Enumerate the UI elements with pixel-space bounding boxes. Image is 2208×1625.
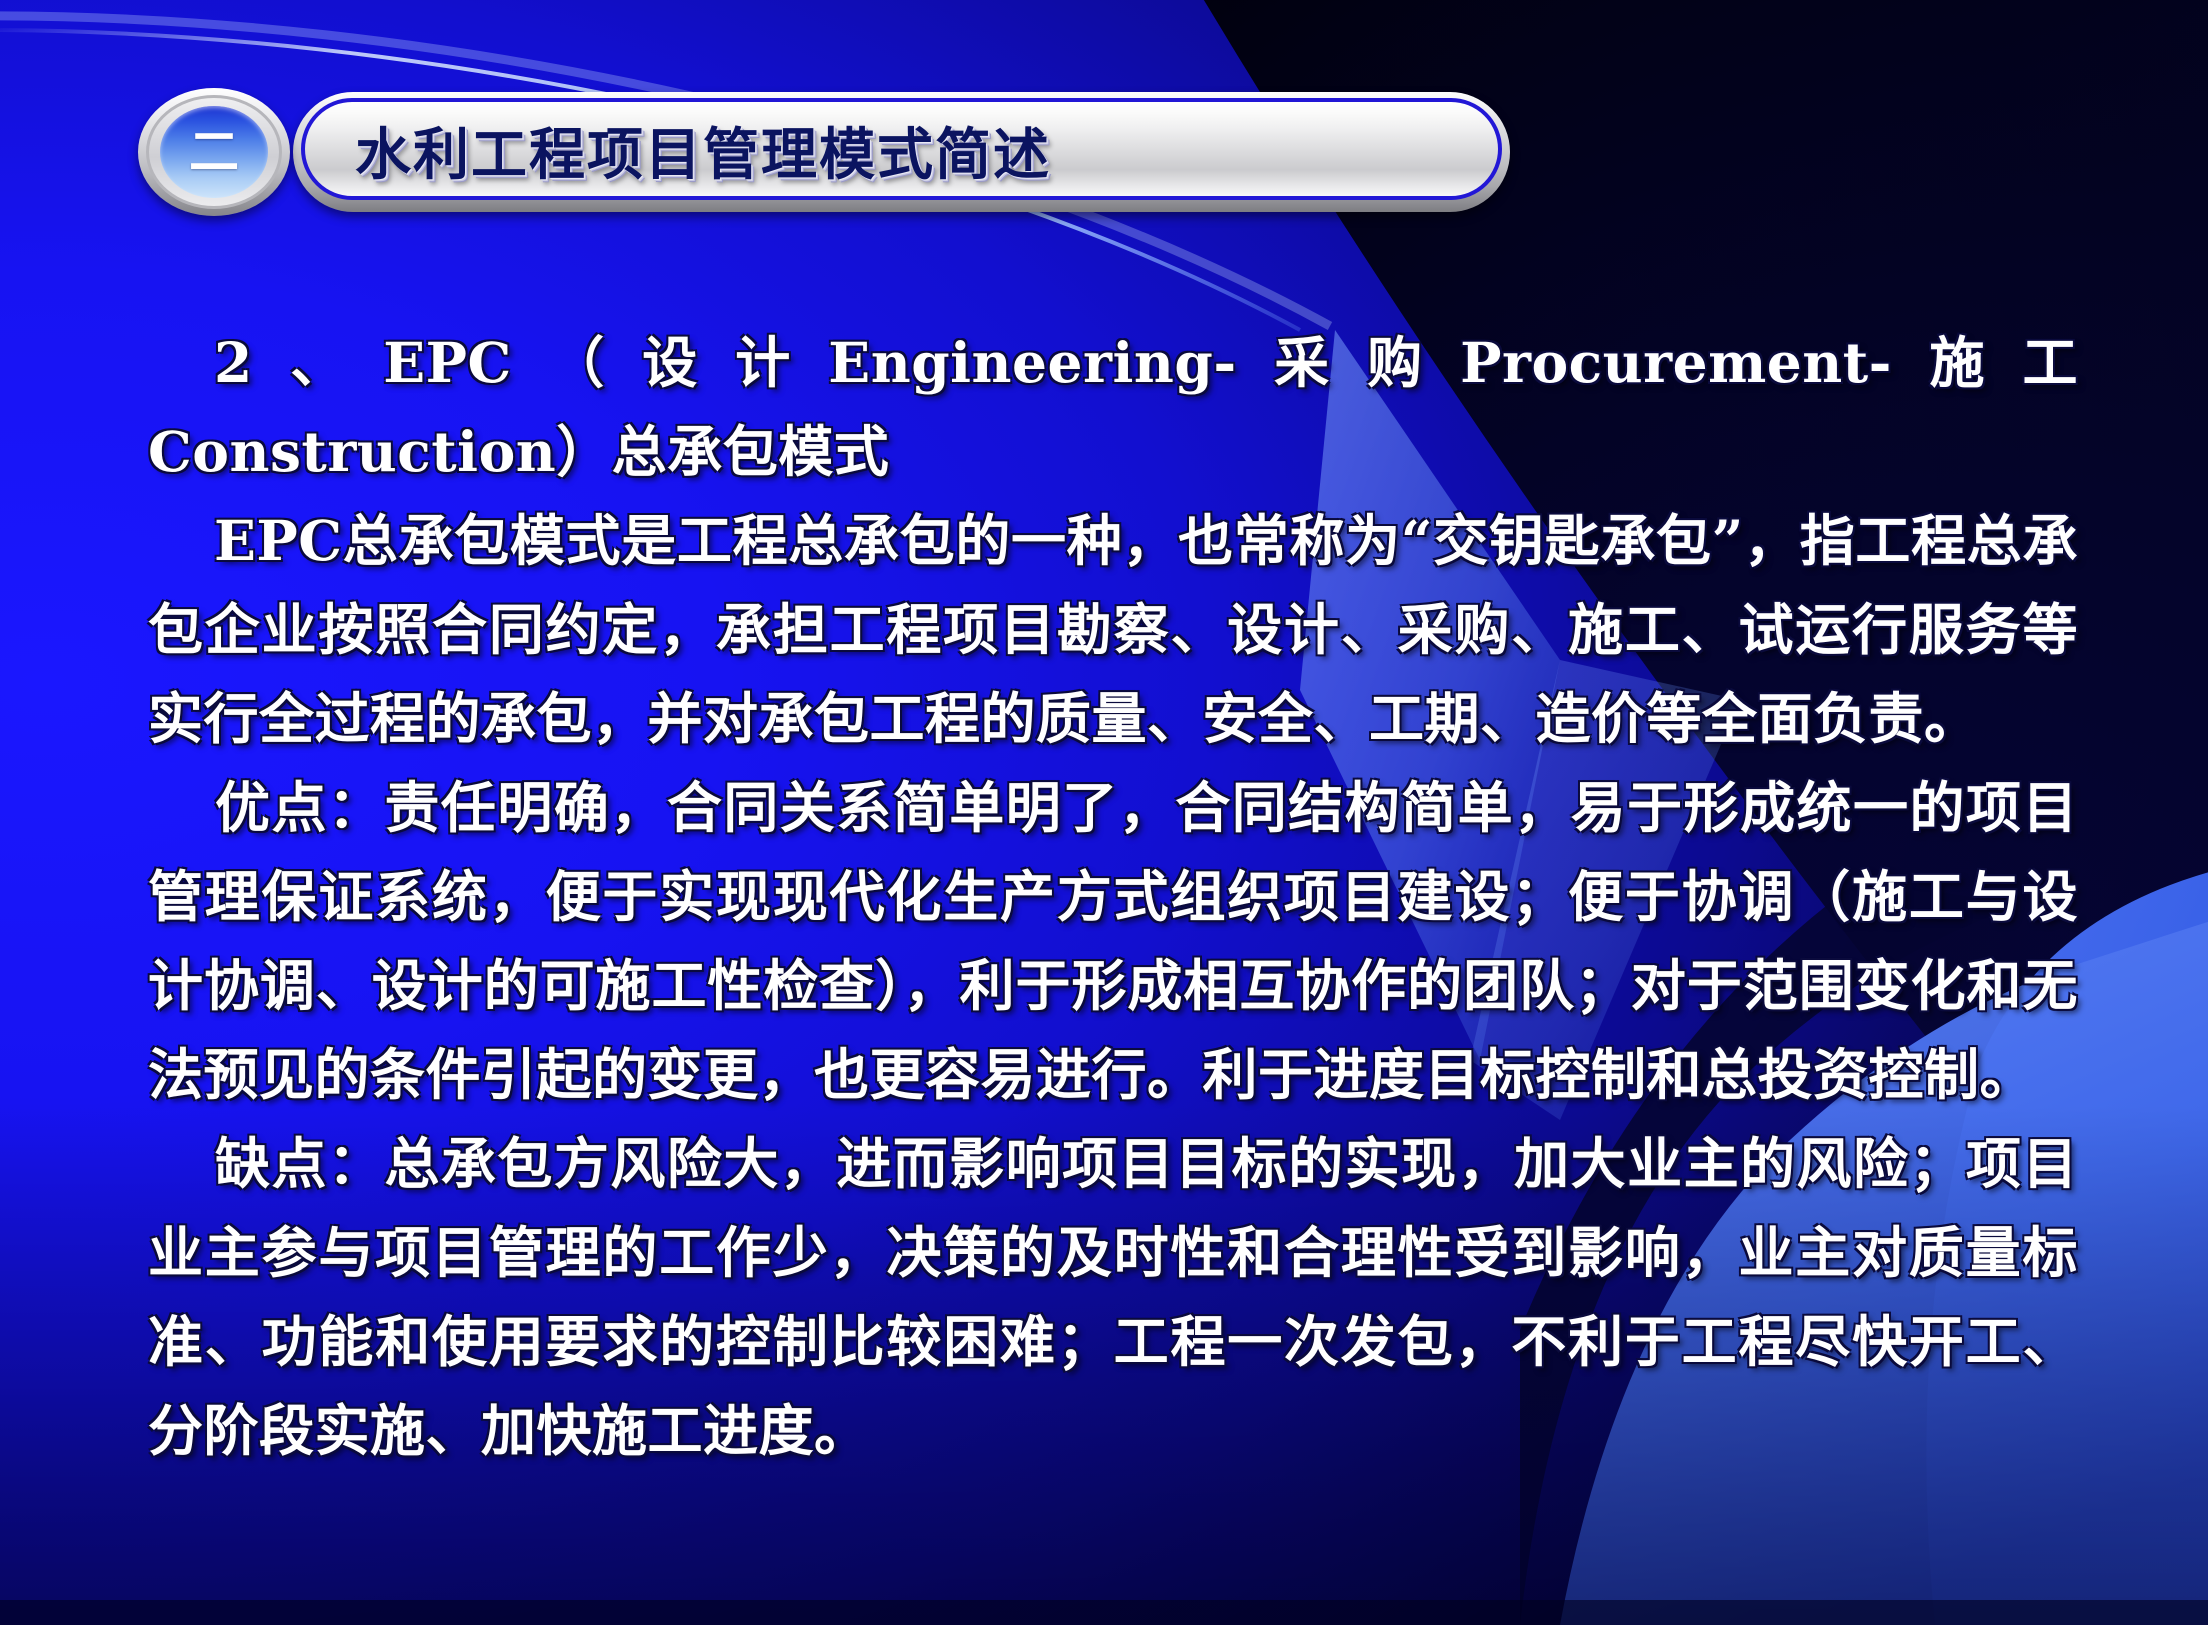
body-heading-text: 2、EPC（设计Engineering-采购Procurement-施工Cons… (148, 330, 2078, 484)
body-paragraph-advantages-text: 优点：责任明确，合同关系简单明了，合同结构简单，易于形成统一的项目管理保证系统，… (148, 775, 2078, 1107)
body-paragraph-disadvantages-text: 缺点：总承包方风险大，进而影响项目目标的实现，加大业主的风险；项目业主参与项目管… (148, 1131, 2078, 1463)
body-paragraph-definition: EPC总承包模式是工程总承包的一种，也常称为“交钥匙承包”，指工程总承包企业按照… (148, 496, 2078, 763)
presentation-slide: 水利工程项目管理模式简述 二 2、EPC（设计Engineering-采购Pro… (0, 0, 2208, 1625)
slide-title-bar: 水利工程项目管理模式简述 二 (138, 88, 1510, 216)
chapter-badge: 二 (138, 88, 290, 216)
body-paragraph-disadvantages: 缺点：总承包方风险大，进而影响项目目标的实现，加大业主的风险；项目业主参与项目管… (148, 1119, 2078, 1475)
title-pill-background: 水利工程项目管理模式简述 (293, 92, 1510, 212)
body-paragraph-definition-text: EPC总承包模式是工程总承包的一种，也常称为“交钥匙承包”，指工程总承包企业按照… (148, 508, 2078, 751)
body-paragraph-advantages: 优点：责任明确，合同关系简单明了，合同结构简单，易于形成统一的项目管理保证系统，… (148, 763, 2078, 1119)
page-title: 水利工程项目管理模式简述 (355, 110, 1051, 191)
body-heading: 2、EPC（设计Engineering-采购Procurement-施工Cons… (148, 318, 2078, 496)
chapter-two-circle-icon: 二 (160, 106, 268, 198)
chapter-badge-label: 二 (189, 127, 239, 177)
slide-body: 2、EPC（设计Engineering-采购Procurement-施工Cons… (148, 318, 2078, 1475)
